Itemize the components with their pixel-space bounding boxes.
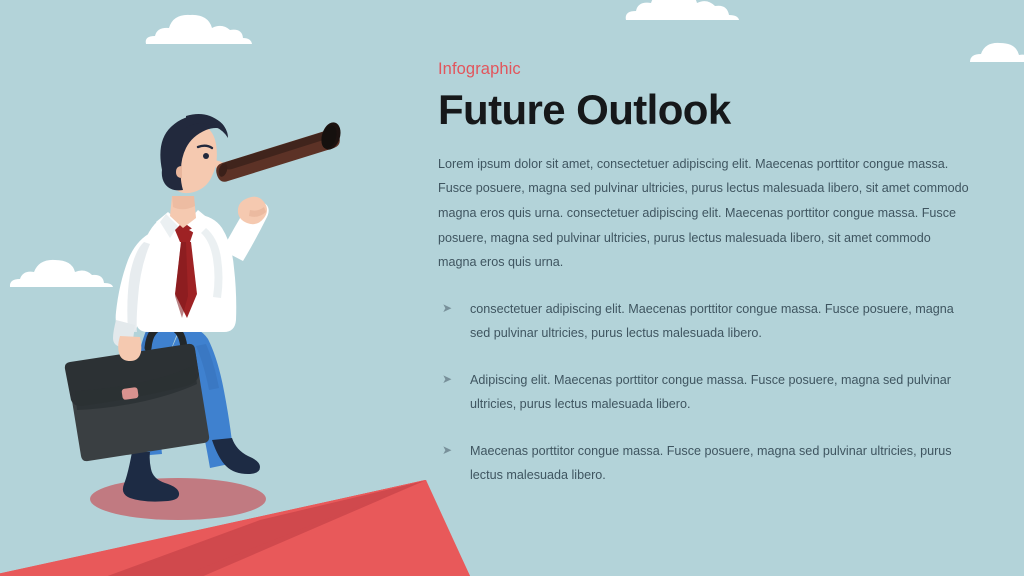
slide-canvas: Infographic Future Outlook Lorem ipsum d… bbox=[0, 0, 1024, 576]
page-title: Future Outlook bbox=[438, 88, 978, 132]
ground-shadow bbox=[90, 478, 266, 520]
list-item-text: consectetuer adipiscing elit. Maecenas p… bbox=[470, 297, 970, 346]
eyebrow-label: Infographic bbox=[438, 60, 978, 80]
bullet-list: ➤ consectetuer adipiscing elit. Maecenas… bbox=[438, 297, 970, 488]
list-item-text: Adipiscing elit. Maecenas porttitor cong… bbox=[470, 368, 970, 417]
briefcase-clasp bbox=[121, 387, 138, 400]
list-item: ➤ Adipiscing elit. Maecenas porttitor co… bbox=[438, 368, 970, 417]
arrow-bullet-icon: ➤ bbox=[438, 368, 470, 391]
list-item-text: Maecenas porttitor congue massa. Fusce p… bbox=[470, 439, 970, 488]
arrow-bullet-icon: ➤ bbox=[438, 297, 470, 320]
arrow-bullet-icon: ➤ bbox=[438, 439, 470, 462]
text-column: Infographic Future Outlook Lorem ipsum d… bbox=[438, 60, 978, 488]
telescope bbox=[216, 120, 344, 182]
body-paragraph: Lorem ipsum dolor sit amet, consectetuer… bbox=[438, 152, 970, 275]
list-item: ➤ Maecenas porttitor congue massa. Fusce… bbox=[438, 439, 970, 488]
list-item: ➤ consectetuer adipiscing elit. Maecenas… bbox=[438, 297, 970, 346]
businessman-illustration bbox=[0, 0, 470, 576]
